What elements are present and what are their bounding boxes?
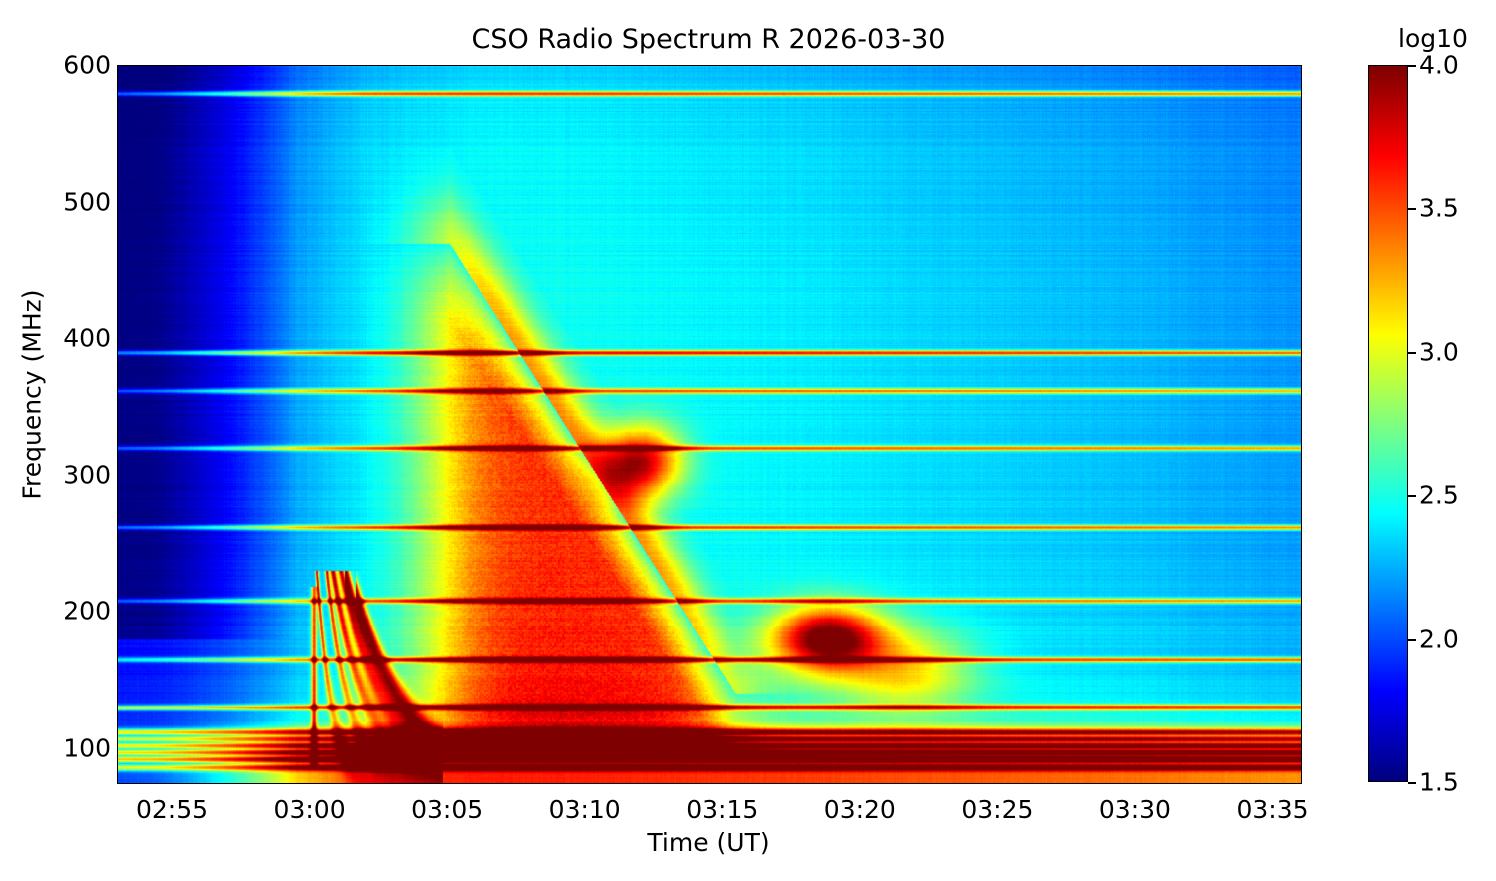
- x-tick-minor: [476, 783, 477, 784]
- x-tick-minor: [1191, 783, 1192, 784]
- x-tick-minor: [833, 783, 834, 784]
- x-tick-minor: [503, 783, 504, 784]
- y-tick-minor: [117, 148, 118, 149]
- x-tick-minor: [256, 783, 257, 784]
- x-tick-minor-top: [751, 65, 752, 66]
- y-tick-major-right: [1301, 749, 1302, 751]
- y-tick-minor-right: [1301, 394, 1302, 395]
- x-tick-minor-top: [283, 65, 284, 66]
- y-tick-label: 300: [63, 460, 111, 489]
- x-tick-minor-top: [696, 65, 697, 66]
- y-tick-major: [117, 66, 118, 68]
- x-tick-minor-top: [806, 65, 807, 66]
- y-tick-minor-right: [1301, 366, 1302, 367]
- x-tick-major-top: [586, 65, 588, 66]
- x-tick-minor: [393, 783, 394, 784]
- x-tick-minor: [146, 783, 147, 784]
- y-tick-label: 200: [63, 597, 111, 626]
- x-tick-label: 03:20: [824, 795, 896, 824]
- colorbar-label: log10: [1398, 24, 1468, 53]
- y-tick-major: [117, 612, 118, 614]
- x-tick-minor: [1163, 783, 1164, 784]
- y-tick-label: 600: [63, 51, 111, 80]
- y-tick-minor-right: [1301, 257, 1302, 258]
- colorbar-tick-label: 3.5: [1419, 194, 1459, 223]
- x-tick-major-top: [1273, 65, 1275, 66]
- x-tick-major: [586, 783, 588, 784]
- x-tick-minor: [421, 783, 422, 784]
- x-tick-minor-top: [668, 65, 669, 66]
- x-tick-label: 02:55: [136, 795, 208, 824]
- colorbar-tick-label: 3.0: [1419, 337, 1459, 366]
- x-tick-minor-top: [1191, 65, 1192, 66]
- x-tick-minor-top: [256, 65, 257, 66]
- y-tick-minor: [117, 421, 118, 422]
- y-tick-minor-right: [1301, 503, 1302, 504]
- x-tick-label: 03:35: [1236, 795, 1308, 824]
- y-axis-label: Frequency (MHz): [18, 215, 47, 575]
- x-tick-major-top: [998, 65, 1000, 66]
- y-tick-minor: [117, 93, 118, 94]
- x-tick-minor: [1053, 783, 1054, 784]
- x-tick-minor: [641, 783, 642, 784]
- x-tick-minor-top: [833, 65, 834, 66]
- x-tick-minor: [1108, 783, 1109, 784]
- x-tick-minor-top: [1081, 65, 1082, 66]
- x-tick-minor-top: [943, 65, 944, 66]
- y-tick-minor: [117, 776, 118, 777]
- y-tick-minor: [117, 175, 118, 176]
- x-tick-major: [311, 783, 313, 784]
- x-tick-minor-top: [778, 65, 779, 66]
- y-tick-label: 100: [63, 733, 111, 762]
- x-tick-major-top: [311, 65, 313, 66]
- colorbar-tick: [1408, 782, 1416, 784]
- y-tick-minor-right: [1301, 285, 1302, 286]
- x-tick-minor-top: [1108, 65, 1109, 66]
- x-tick-label: 03:25: [961, 795, 1033, 824]
- y-tick-minor: [117, 722, 118, 723]
- x-tick-major: [1136, 783, 1138, 784]
- x-tick-minor-top: [146, 65, 147, 66]
- x-tick-minor-top: [1218, 65, 1219, 66]
- y-tick-minor: [117, 558, 118, 559]
- x-tick-minor-top: [531, 65, 532, 66]
- spectrogram-image: [118, 66, 1301, 783]
- x-tick-minor-top: [476, 65, 477, 66]
- x-tick-minor: [338, 783, 339, 784]
- y-tick-minor-right: [1301, 530, 1302, 531]
- colorbar[interactable]: [1368, 65, 1408, 782]
- x-tick-minor-top: [613, 65, 614, 66]
- x-tick-minor: [228, 783, 229, 784]
- x-tick-major-top: [861, 65, 863, 66]
- x-tick-minor: [696, 783, 697, 784]
- y-tick-minor: [117, 121, 118, 122]
- y-tick-minor-right: [1301, 585, 1302, 586]
- x-tick-minor-top: [366, 65, 367, 66]
- y-tick-minor-right: [1301, 448, 1302, 449]
- x-tick-minor-top: [1163, 65, 1164, 66]
- x-tick-minor: [1026, 783, 1027, 784]
- x-tick-minor: [778, 783, 779, 784]
- x-tick-minor: [366, 783, 367, 784]
- y-tick-major: [117, 749, 118, 751]
- y-tick-minor-right: [1301, 121, 1302, 122]
- x-tick-major: [1273, 783, 1275, 784]
- y-tick-minor: [117, 503, 118, 504]
- x-tick-minor-top: [888, 65, 889, 66]
- y-tick-minor: [117, 640, 118, 641]
- colorbar-tick-label: 2.0: [1419, 624, 1459, 653]
- colorbar-gradient: [1368, 65, 1408, 782]
- y-tick-minor: [117, 366, 118, 367]
- x-tick-minor: [283, 783, 284, 784]
- y-tick-major-right: [1301, 612, 1302, 614]
- radio-spectrum-figure: CSO Radio Spectrum R 2026-03-30 Time (UT…: [0, 0, 1496, 881]
- x-tick-minor-top: [971, 65, 972, 66]
- y-tick-major-right: [1301, 203, 1302, 205]
- x-tick-minor-top: [641, 65, 642, 66]
- x-tick-label: 03:10: [549, 795, 621, 824]
- y-tick-minor: [117, 312, 118, 313]
- x-tick-minor: [531, 783, 532, 784]
- x-tick-minor-top: [393, 65, 394, 66]
- x-tick-major-top: [1136, 65, 1138, 66]
- y-tick-label: 500: [63, 187, 111, 216]
- x-tick-minor: [613, 783, 614, 784]
- x-tick-minor: [668, 783, 669, 784]
- spectrogram-plot-area[interactable]: [117, 65, 1302, 784]
- x-tick-major: [173, 783, 175, 784]
- x-tick-label: 03:00: [274, 795, 346, 824]
- y-tick-minor: [117, 285, 118, 286]
- x-tick-minor-top: [338, 65, 339, 66]
- x-tick-minor-top: [421, 65, 422, 66]
- colorbar-tick: [1408, 639, 1416, 641]
- y-tick-minor: [117, 530, 118, 531]
- x-tick-major-top: [723, 65, 725, 66]
- x-tick-label: 03:05: [411, 795, 483, 824]
- x-tick-major: [723, 783, 725, 784]
- colorbar-tick: [1408, 352, 1416, 354]
- y-tick-minor: [117, 448, 118, 449]
- x-tick-minor: [888, 783, 889, 784]
- x-tick-minor: [916, 783, 917, 784]
- x-tick-minor: [971, 783, 972, 784]
- y-tick-minor-right: [1301, 148, 1302, 149]
- y-tick-minor-right: [1301, 312, 1302, 313]
- x-tick-major-top: [448, 65, 450, 66]
- x-tick-minor: [1218, 783, 1219, 784]
- colorbar-tick-label: 2.5: [1419, 481, 1459, 510]
- y-tick-major: [117, 339, 118, 341]
- x-tick-minor-top: [1246, 65, 1247, 66]
- y-tick-major-right: [1301, 476, 1302, 478]
- y-tick-label: 400: [63, 324, 111, 353]
- y-tick-minor-right: [1301, 640, 1302, 641]
- y-tick-minor: [117, 694, 118, 695]
- y-tick-major: [117, 476, 118, 478]
- x-tick-minor: [943, 783, 944, 784]
- x-tick-minor: [1081, 783, 1082, 784]
- x-tick-minor-top: [503, 65, 504, 66]
- x-tick-label: 03:30: [1099, 795, 1171, 824]
- y-tick-minor-right: [1301, 694, 1302, 695]
- x-tick-minor: [558, 783, 559, 784]
- x-tick-minor: [1246, 783, 1247, 784]
- x-tick-major: [998, 783, 1000, 784]
- y-tick-major-right: [1301, 339, 1302, 341]
- x-tick-minor-top: [201, 65, 202, 66]
- x-tick-major-top: [173, 65, 175, 66]
- page-title: CSO Radio Spectrum R 2026-03-30: [117, 24, 1300, 55]
- y-tick-minor: [117, 230, 118, 231]
- x-tick-minor: [806, 783, 807, 784]
- colorbar-tick: [1408, 65, 1416, 67]
- y-tick-minor: [117, 394, 118, 395]
- y-tick-minor-right: [1301, 230, 1302, 231]
- y-tick-minor-right: [1301, 93, 1302, 94]
- y-tick-minor-right: [1301, 776, 1302, 777]
- y-tick-minor-right: [1301, 667, 1302, 668]
- colorbar-tick-label: 4.0: [1419, 51, 1459, 80]
- y-tick-minor: [117, 257, 118, 258]
- x-tick-minor-top: [1026, 65, 1027, 66]
- colorbar-tick-label: 1.5: [1419, 768, 1459, 797]
- y-tick-minor: [117, 667, 118, 668]
- y-tick-minor-right: [1301, 722, 1302, 723]
- y-tick-minor-right: [1301, 175, 1302, 176]
- x-tick-minor: [751, 783, 752, 784]
- x-tick-minor-top: [228, 65, 229, 66]
- x-tick-minor-top: [1053, 65, 1054, 66]
- y-tick-minor-right: [1301, 421, 1302, 422]
- y-tick-minor: [117, 585, 118, 586]
- x-tick-label: 03:15: [686, 795, 758, 824]
- y-tick-major: [117, 203, 118, 205]
- y-tick-major-right: [1301, 66, 1302, 68]
- x-axis-label: Time (UT): [117, 828, 1300, 857]
- y-tick-minor-right: [1301, 558, 1302, 559]
- x-tick-minor: [201, 783, 202, 784]
- x-tick-major: [861, 783, 863, 784]
- colorbar-tick: [1408, 495, 1416, 497]
- x-tick-major: [448, 783, 450, 784]
- x-tick-minor-top: [558, 65, 559, 66]
- colorbar-tick: [1408, 208, 1416, 210]
- x-tick-minor-top: [916, 65, 917, 66]
